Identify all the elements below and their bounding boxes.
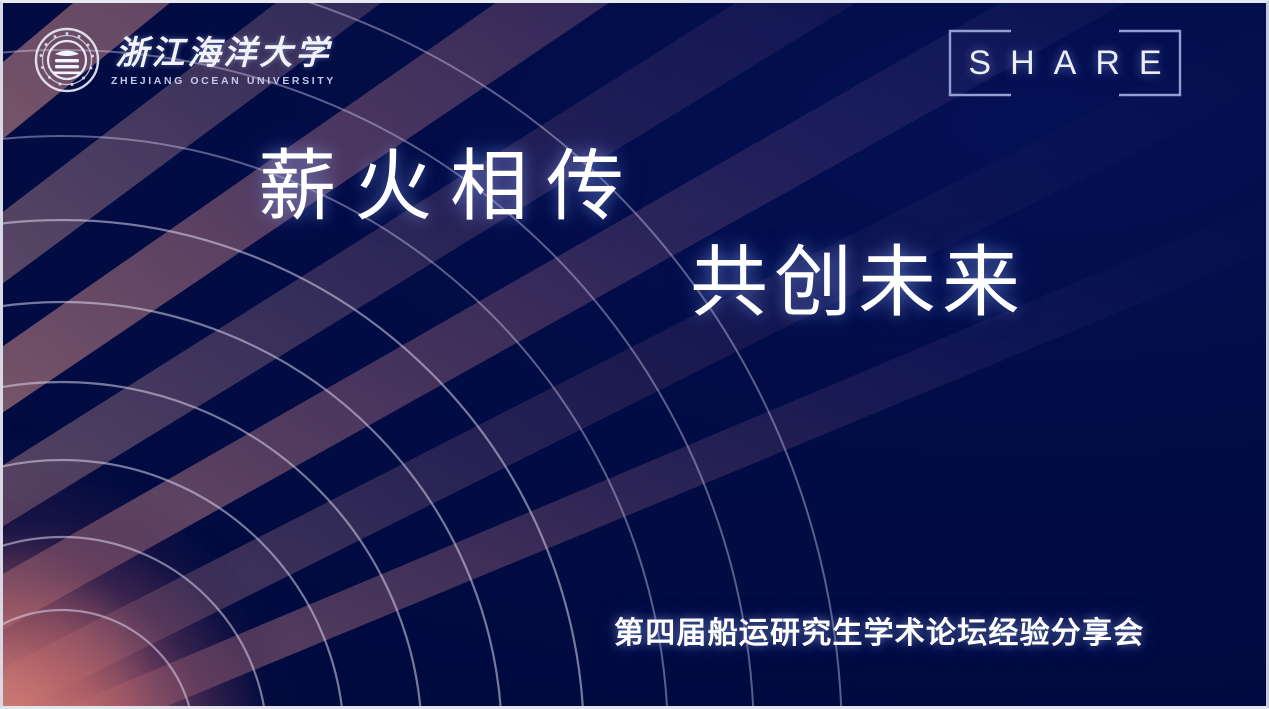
university-name-en: ZHEJIANG OCEAN UNIVERSITY [111, 74, 336, 88]
title-line-1: 薪火相传 [0, 138, 1269, 234]
university-seal-icon [33, 26, 101, 94]
university-wordmark: 浙江海洋大学 ZHEJIANG OCEAN UNIVERSITY [111, 33, 336, 88]
share-mark: SHARE [947, 28, 1183, 98]
slide-background-artwork [0, 0, 1269, 709]
presentation-slide: 浙江海洋大学 ZHEJIANG OCEAN UNIVERSITY SHARE 薪… [0, 0, 1269, 709]
concentric-arcs-icon [0, 0, 1269, 709]
slide-title: 薪火相传 共创未来 [0, 138, 1269, 330]
university-logo: 浙江海洋大学 ZHEJIANG OCEAN UNIVERSITY [33, 26, 336, 94]
share-label: SHARE [947, 28, 1183, 98]
university-name-cn: 浙江海洋大学 [115, 35, 331, 73]
title-line-2: 共创未来 [0, 234, 1269, 330]
slide-subtitle: 第四届船运研究生学术论坛经验分享会 [614, 608, 1144, 652]
